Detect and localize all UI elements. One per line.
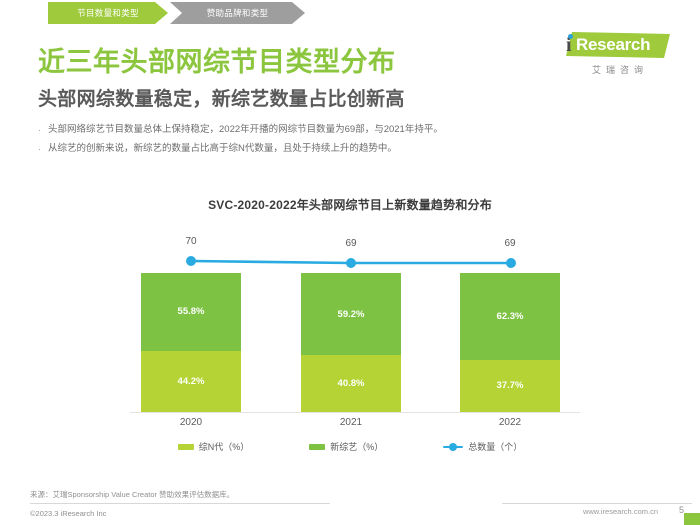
corner-accent [684,513,700,525]
bar-segment-label: 59.2% [338,309,365,320]
total-value-label-2020: 70 [161,236,221,247]
logo-chinese-name: 艾瑞咨询 [552,63,672,76]
website-url: www.iresearch.com.cn [583,507,658,516]
slide-root: 节目数量和类型 赞助品牌和类型 i Research 艾瑞咨询 近三年头部网综节… [0,0,700,525]
bullet-list: · 头部网络综艺节目数量总体上保持稳定，2022年开播的网综节目数量为69部，与… [38,122,658,160]
iresearch-logo: i Research 艾瑞咨询 [552,32,672,76]
logo-wordmark: Research [576,35,650,55]
chart-baseline [130,412,580,413]
legend-item-new-variety[interactable]: 新综艺（%） [309,440,383,453]
x-axis-label-2021: 2021 [301,417,401,428]
legend-label: 综N代（%） [199,440,250,453]
section-tabbar: 节目数量和类型 赞助品牌和类型 [0,0,700,26]
total-value-label-2022: 69 [480,238,540,249]
source-note: 来源：艾瑞Sponsorship Value Creator 赞助效果评估数据库… [30,489,234,500]
bar-segment-n-generation-2020: 44.2% [141,351,241,412]
line-marker-2021 [346,258,356,268]
bar-segment-label: 55.8% [178,306,205,317]
chart-legend: 综N代（%） 新综艺（%） 总数量（个） [0,440,700,453]
source-divider [30,503,330,504]
total-value-label-2021: 69 [321,238,381,249]
legend-line-marker-icon [443,443,463,451]
stacked-bar-2020: 55.8% 44.2% [141,273,241,412]
footer-divider [502,503,692,504]
copyright-note: ©2023.3 iResearch Inc [30,509,106,518]
list-item: · 头部网络综艺节目数量总体上保持稳定，2022年开播的网综节目数量为69部，与… [38,122,658,138]
list-item: · 从综艺的创新来说，新综艺的数量占比高于综N代数量，且处于持续上升的趋势中。 [38,141,658,157]
legend-swatch-icon [309,444,325,450]
bar-segment-new-variety-2020: 55.8% [141,273,241,351]
bar-segment-new-variety-2021: 59.2% [301,273,401,355]
bar-segment-label: 44.2% [178,376,205,387]
logo-mark: i Research [552,32,672,60]
legend-item-n-generation[interactable]: 综N代（%） [178,440,250,453]
stacked-bar-2022: 62.3% 37.7% [460,273,560,412]
legend-label: 新综艺（%） [330,440,383,453]
tab-label: 节目数量和类型 [77,7,139,19]
bar-segment-n-generation-2021: 40.8% [301,355,401,412]
legend-label: 总数量（个） [468,440,522,453]
legend-item-total-count[interactable]: 总数量（个） [443,440,522,453]
bullet-text: 头部网络综艺节目数量总体上保持稳定，2022年开播的网综节目数量为69部，与20… [48,122,658,138]
chart-title: SVC-2020-2022年头部网综节目上新数量趋势和分布 [0,196,700,213]
legend-swatch-icon [178,444,194,450]
bullet-text: 从综艺的创新来说，新综艺的数量占比高于综N代数量，且处于持续上升的趋势中。 [48,141,658,157]
bar-segment-new-variety-2022: 62.3% [460,273,560,360]
page-title: 近三年头部网综节目类型分布 [38,40,396,79]
tab-label: 赞助品牌和类型 [207,7,269,19]
bar-segment-label: 40.8% [338,378,365,389]
bar-segment-label: 37.7% [497,380,524,391]
tab-program-count-and-type[interactable]: 节目数量和类型 [48,2,182,24]
bar-segment-label: 62.3% [497,311,524,322]
bar-segment-n-generation-2022: 37.7% [460,360,560,412]
stacked-bar-2021: 59.2% 40.8% [301,273,401,412]
x-axis-label-2022: 2022 [460,417,560,428]
bullet-marker-icon: · [38,122,48,138]
page-subtitle: 头部网综数量稳定，新综艺数量占比创新高 [38,84,405,111]
line-marker-2020 [186,256,196,266]
logo-dot-icon [568,34,573,39]
bullet-marker-icon: · [38,141,48,157]
line-marker-2022 [506,258,516,268]
x-axis-label-2020: 2020 [141,417,241,428]
tab-sponsor-brand-and-type[interactable]: 赞助品牌和类型 [170,2,319,24]
